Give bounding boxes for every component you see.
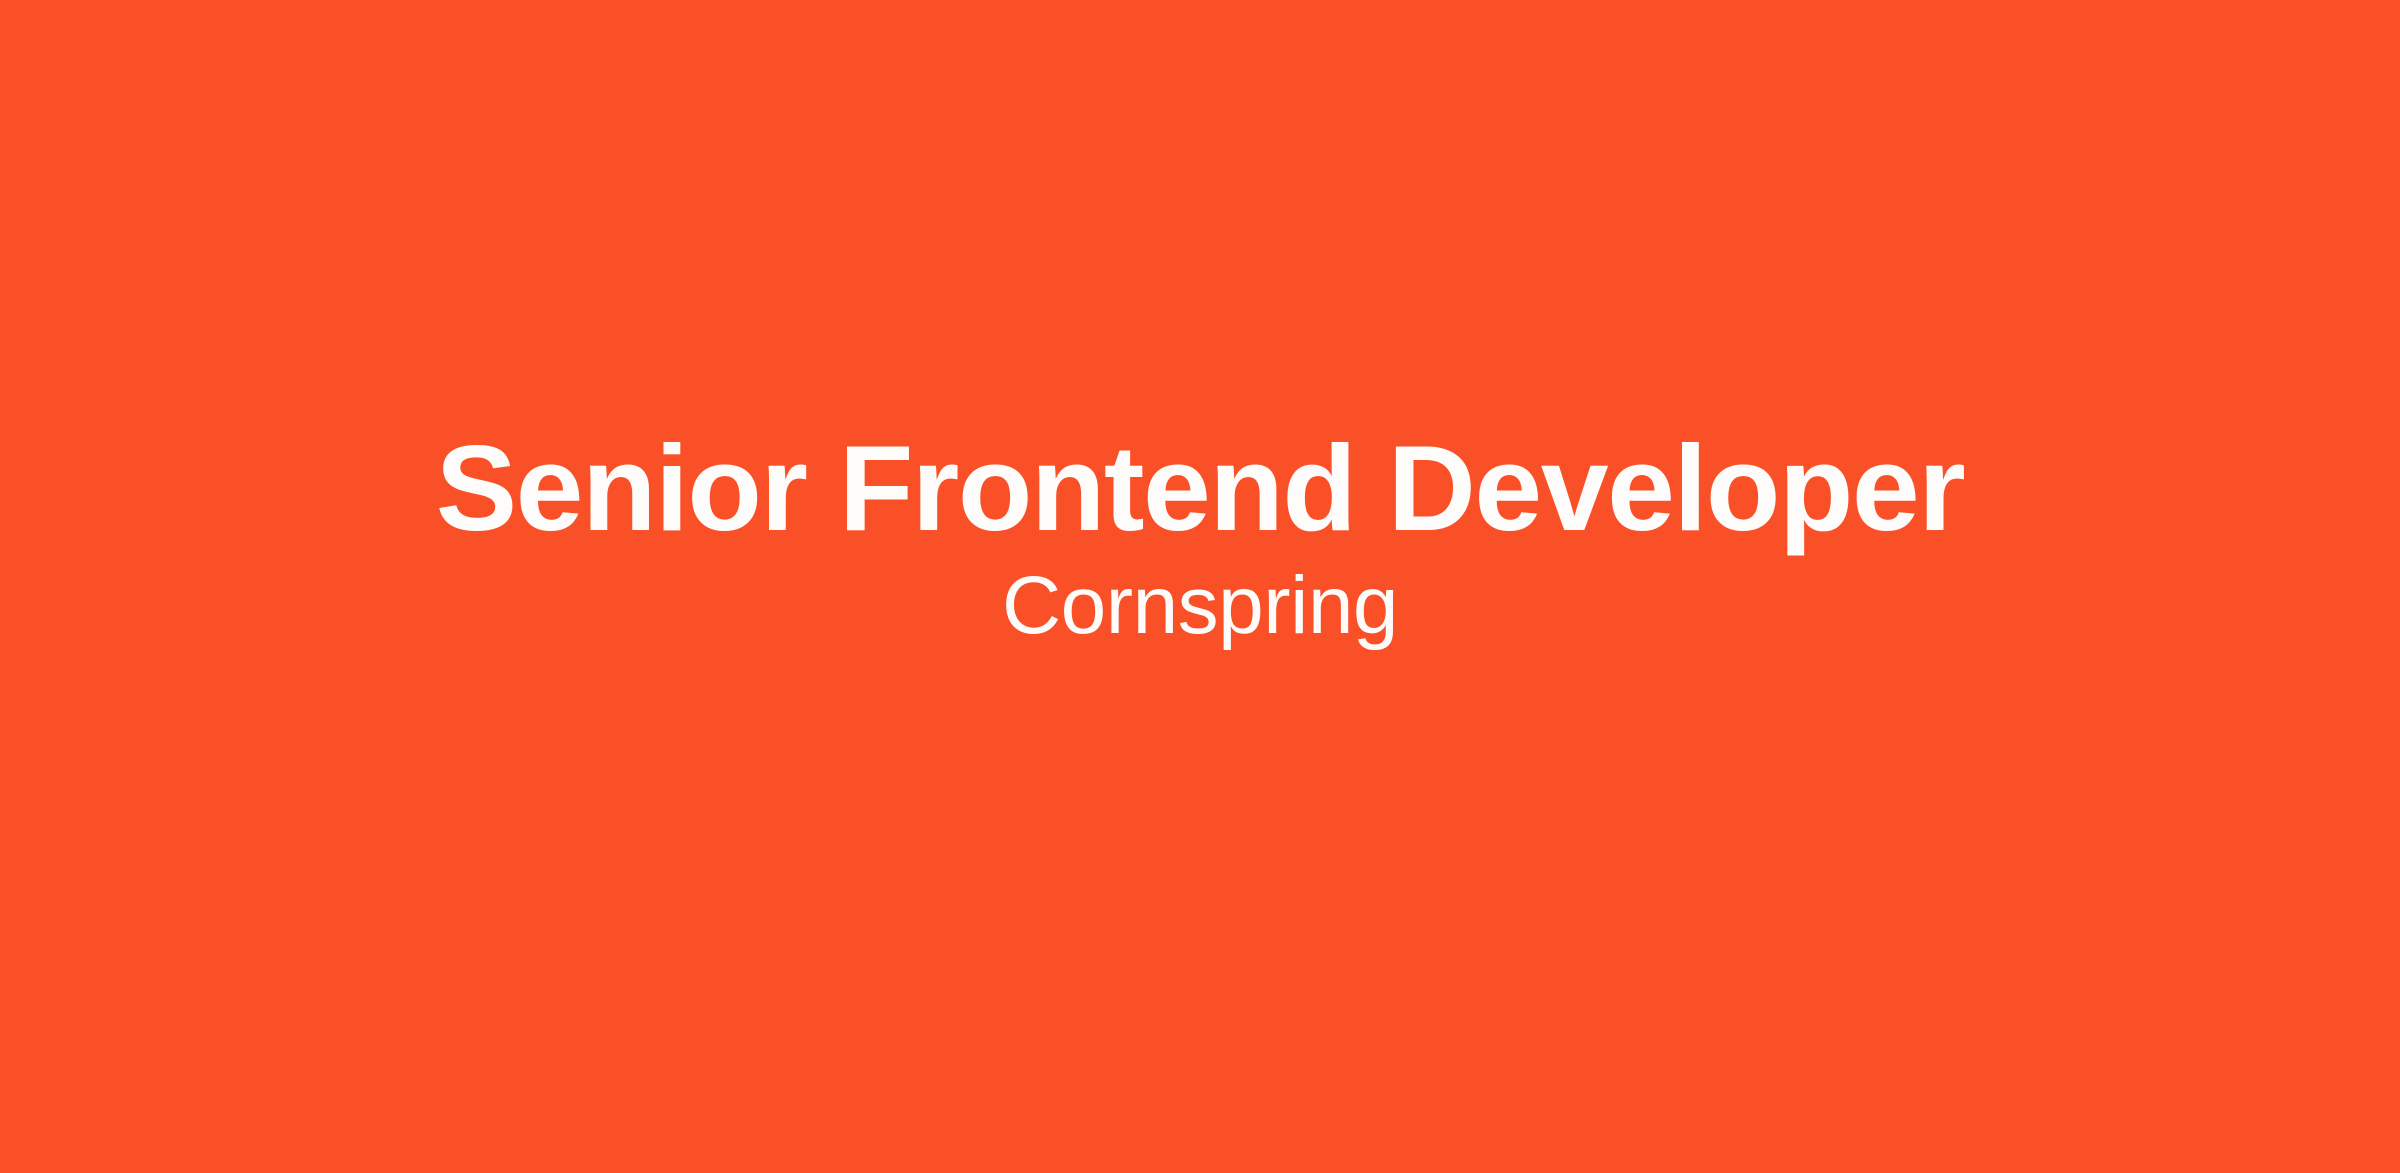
page-title: Senior Frontend Developer [436, 426, 1964, 550]
job-posting-card: Senior Frontend Developer Cornspring [0, 0, 2400, 1173]
company-name: Cornspring [1002, 561, 1398, 651]
